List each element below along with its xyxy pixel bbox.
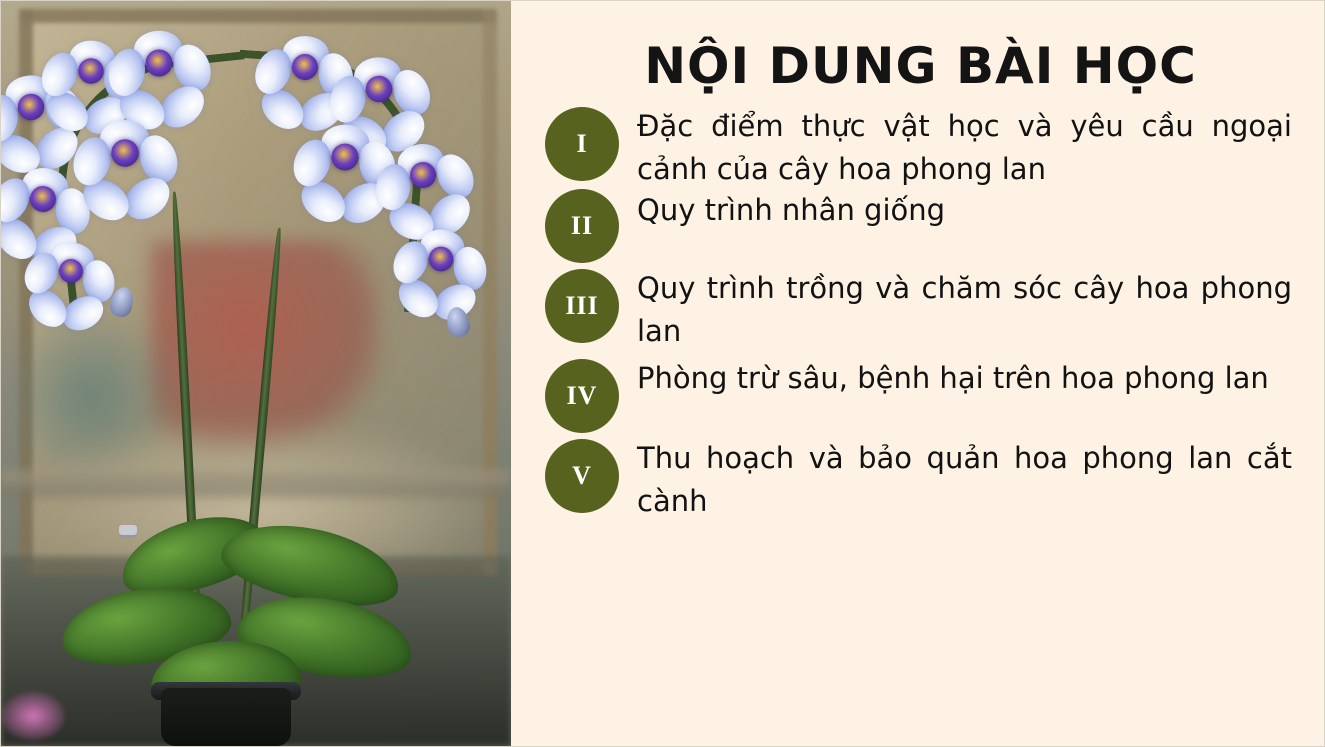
item-numeral-badge: V <box>545 439 619 513</box>
list-item[interactable]: II Quy trình nhân giống <box>545 189 1296 263</box>
lesson-items-list: I Đặc điểm thực vật học và yêu cầu ngoại… <box>545 105 1296 522</box>
item-numeral-badge: IV <box>545 359 619 433</box>
slide: NỘI DUNG BÀI HỌC I Đặc điểm thực vật học… <box>0 0 1325 747</box>
background-pink-flower <box>1 692 65 740</box>
page-title: NỘI DUNG BÀI HỌC <box>545 37 1296 95</box>
item-text: Phòng trừ sâu, bệnh hại trên hoa phong l… <box>637 357 1296 400</box>
list-item[interactable]: V Thu hoạch và bảo quản hoa phong lan cắ… <box>545 437 1296 523</box>
item-text: Đặc điểm thực vật học và yêu cầu ngoại c… <box>637 105 1296 191</box>
item-numeral-badge: I <box>545 107 619 181</box>
stem-clip-left <box>119 525 137 538</box>
item-numeral-badge: III <box>545 269 619 343</box>
flower-pot <box>161 688 291 746</box>
list-item[interactable]: IV Phòng trừ sâu, bệnh hại trên hoa phon… <box>545 357 1296 433</box>
item-text: Quy trình nhân giống <box>637 189 1296 232</box>
orchid-flower <box>391 209 491 309</box>
orchid-photo <box>1 1 511 746</box>
orchid-flower <box>21 221 121 321</box>
item-numeral-badge: II <box>545 189 619 263</box>
item-text: Thu hoạch và bảo quản hoa phong lan cắt … <box>637 437 1296 523</box>
lesson-contents-panel: NỘI DUNG BÀI HỌC I Đặc điểm thực vật học… <box>511 1 1324 746</box>
list-item[interactable]: III Quy trình trồng và chăm sóc cây hoa … <box>545 267 1296 353</box>
item-text: Quy trình trồng và chăm sóc cây hoa phon… <box>637 267 1296 353</box>
orchid-flower <box>72 100 177 205</box>
list-item[interactable]: I Đặc điểm thực vật học và yêu cầu ngoại… <box>545 105 1296 191</box>
